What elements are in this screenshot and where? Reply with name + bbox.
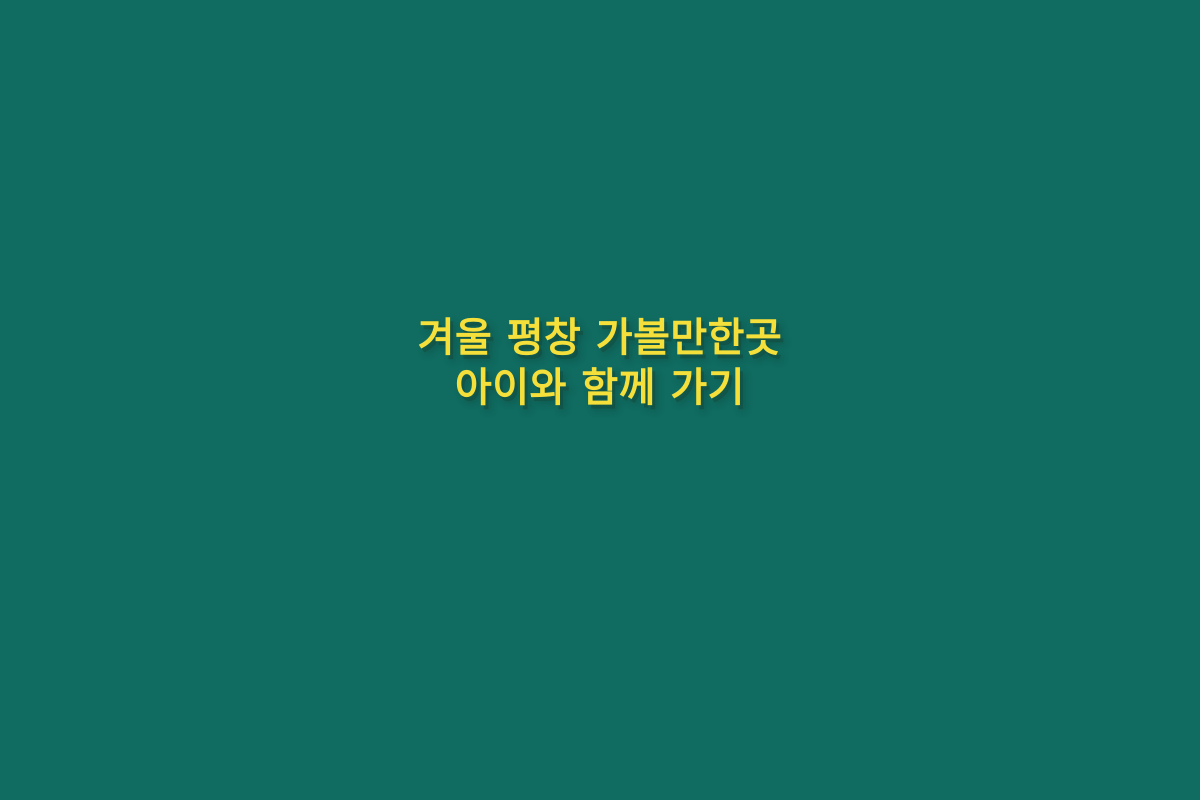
title-block: 겨울 평창 가볼만한곳 아이와 함께 가기 [0,0,1200,800]
banner-canvas: 겨울 평창 가볼만한곳 아이와 함께 가기 [0,0,1200,800]
title-line-2: 아이와 함께 가기 [0,364,1200,414]
title-line-1: 겨울 평창 가볼만한곳 [0,314,1200,364]
